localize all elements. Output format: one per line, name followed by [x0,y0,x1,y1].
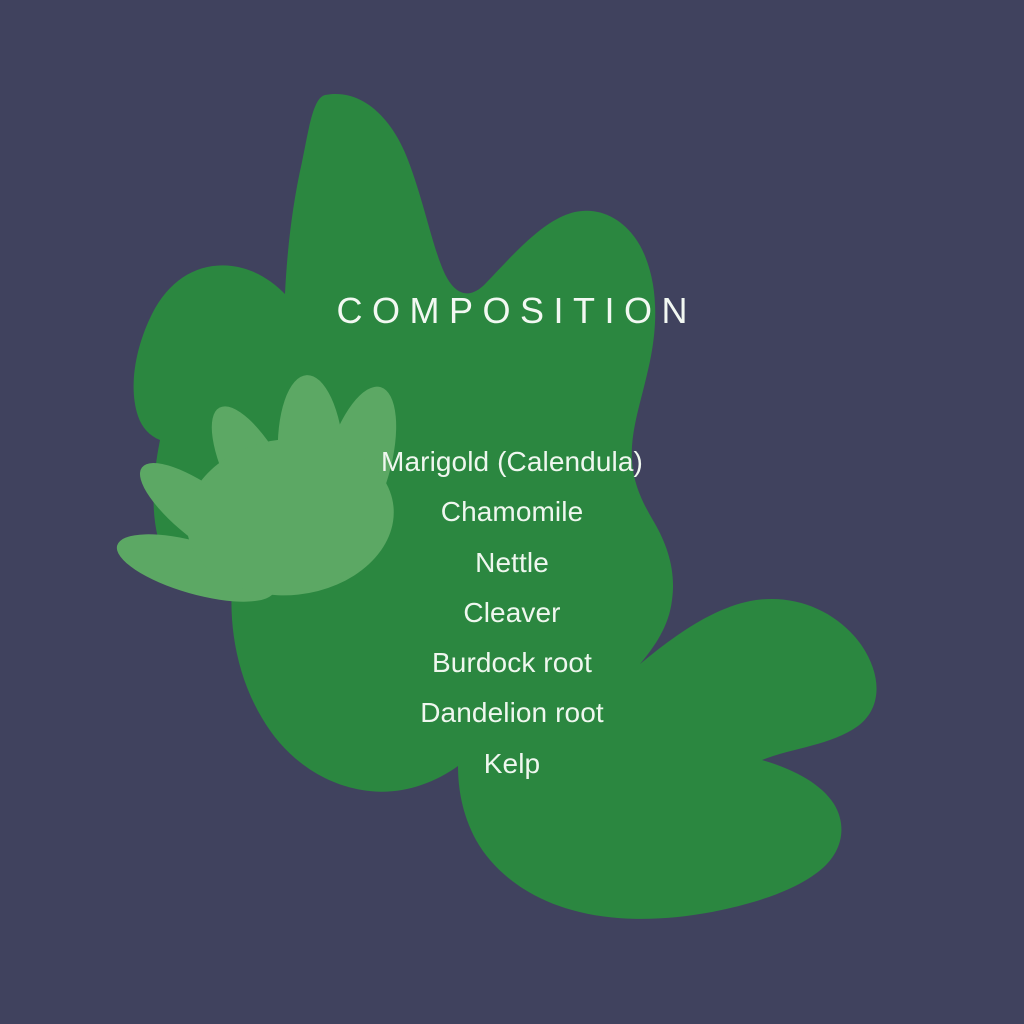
poster-canvas: COMPOSITION Marigold (Calendula) Chamomi… [0,0,1024,1024]
decorative-leaf-artwork [0,0,1024,1024]
